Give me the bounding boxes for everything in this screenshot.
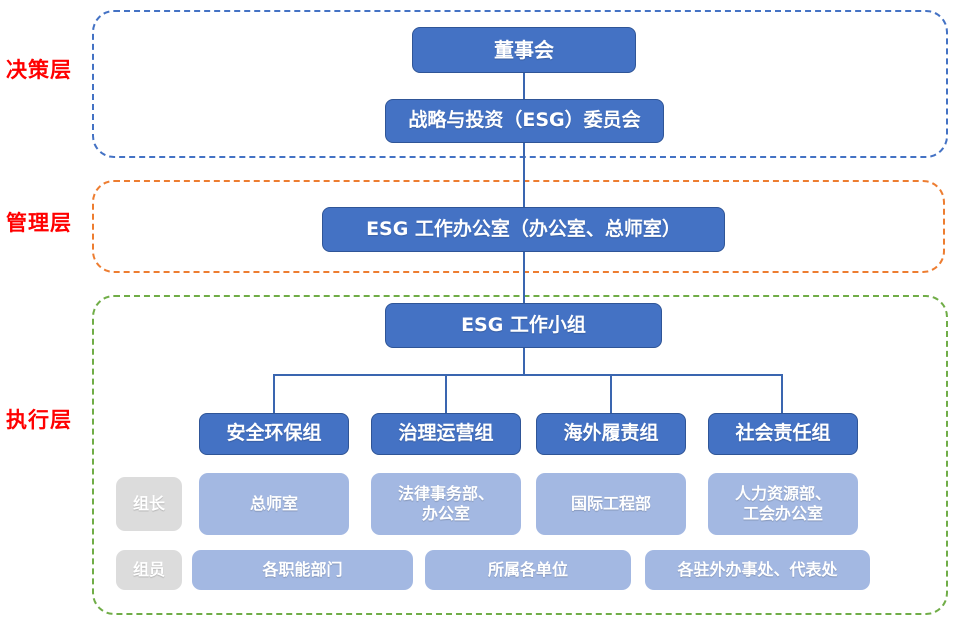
row-label-member: 组员	[116, 550, 182, 590]
connector-office-workgroup	[523, 251, 525, 304]
layer-label-execute: 执行层	[6, 404, 72, 434]
connector-horizontal-bus	[273, 374, 781, 376]
node-leader-overseas-responsibility[interactable]: 国际工程部	[536, 473, 686, 535]
connector-workgroup-trunk	[523, 347, 525, 375]
node-group-overseas-responsibility[interactable]: 海外履责组	[536, 413, 686, 455]
node-group-social-responsibility[interactable]: 社会责任组	[708, 413, 858, 455]
leader-line-1: 人力资源部、	[735, 484, 831, 504]
node-group-safety-environment[interactable]: 安全环保组	[199, 413, 349, 455]
connector-committee-office	[523, 142, 525, 208]
node-esg-working-office[interactable]: ESG 工作办公室（办公室、总师室）	[322, 207, 725, 252]
leader-line-2: 工会办公室	[743, 504, 823, 524]
node-member-overseas-offices[interactable]: 各驻外办事处、代表处	[645, 550, 870, 590]
connector-branch-4	[781, 374, 783, 414]
leader-line-1: 法律事务部、	[398, 484, 494, 504]
node-leader-governance-operations[interactable]: 法律事务部、 办公室	[371, 473, 521, 535]
connector-board-committee	[523, 72, 525, 100]
row-label-leader: 组长	[116, 477, 182, 531]
connector-branch-3	[610, 374, 612, 414]
node-member-functional-departments[interactable]: 各职能部门	[192, 550, 413, 590]
leader-line-2: 办公室	[422, 504, 470, 524]
node-member-affiliated-units[interactable]: 所属各单位	[425, 550, 631, 590]
node-esg-working-group[interactable]: ESG 工作小组	[385, 303, 662, 348]
connector-branch-2	[445, 374, 447, 414]
node-board[interactable]: 董事会	[412, 27, 636, 73]
layer-label-decision: 决策层	[6, 54, 72, 84]
node-leader-safety-environment[interactable]: 总师室	[199, 473, 349, 535]
connector-branch-1	[273, 374, 275, 414]
layer-label-manage: 管理层	[6, 207, 72, 237]
node-group-governance-operations[interactable]: 治理运营组	[371, 413, 521, 455]
org-chart-canvas: 决策层 管理层 执行层 董事会 战略与投资（ESG）委员会 ESG 工作办公室（…	[0, 0, 958, 625]
node-leader-social-responsibility[interactable]: 人力资源部、 工会办公室	[708, 473, 858, 535]
node-strategy-investment-esg-committee[interactable]: 战略与投资（ESG）委员会	[385, 99, 664, 143]
